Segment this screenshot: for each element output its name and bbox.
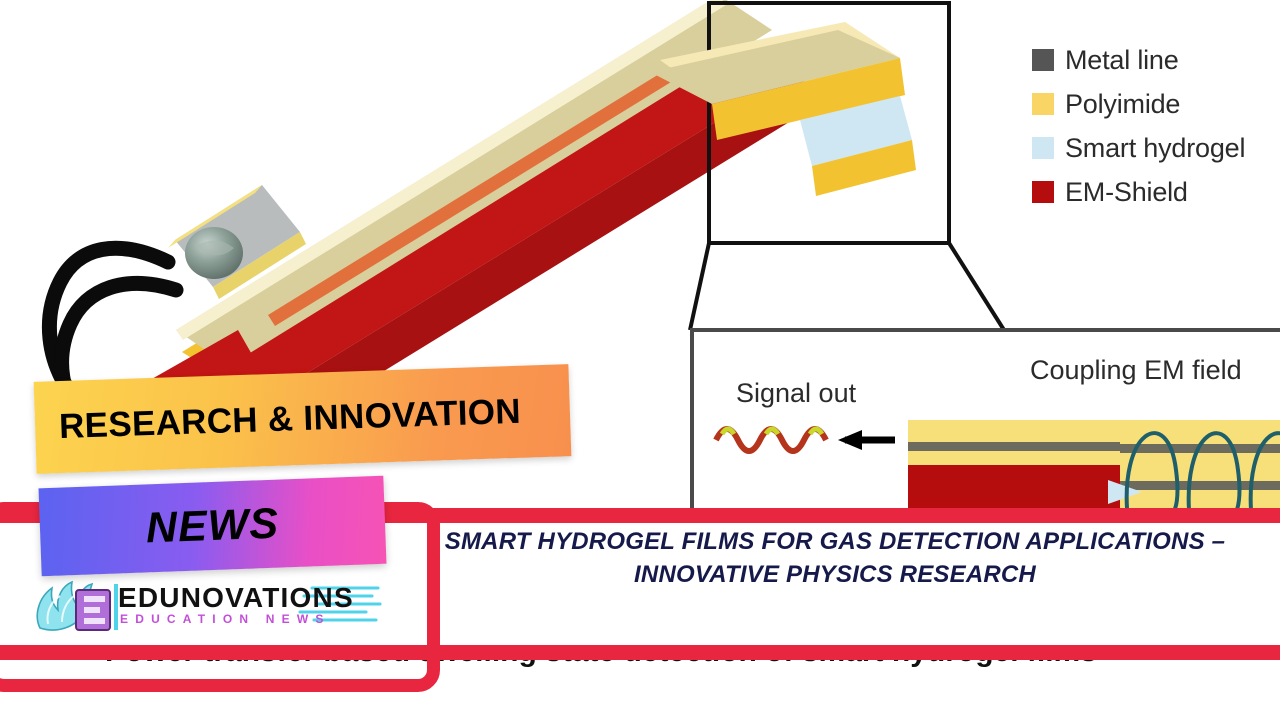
figure-legend: Metal line Polyimide Smart hydrogel EM-S… (1032, 38, 1245, 214)
news-badge-label: NEWS (145, 499, 280, 553)
logo-tagline: EDUCATION NEWS (120, 612, 331, 626)
legend-label: Polyimide (1065, 89, 1180, 120)
legend-item: EM-Shield (1032, 170, 1245, 214)
monogram-icon (76, 590, 110, 630)
logo-wordmark: EDUNOVATIONS (118, 582, 354, 614)
headline: SMART HYDROGEL FILMS FOR GAS DETECTION A… (420, 525, 1250, 591)
legend-item: Polyimide (1032, 82, 1245, 126)
legend-item: Smart hydrogel (1032, 126, 1245, 170)
legend-label: EM-Shield (1065, 177, 1188, 208)
legend-swatch-polyimide (1032, 93, 1054, 115)
news-badge: NEWS (39, 476, 387, 577)
category-banner: RESEARCH & INNOVATION (34, 364, 572, 474)
legend-label: Smart hydrogel (1065, 133, 1245, 164)
screenshot-root: Metal line Polyimide Smart hydrogel EM-S… (0, 0, 1280, 720)
callout-leader-lines (690, 243, 1004, 330)
signal-out-label: Signal out (736, 378, 856, 409)
coupling-em-field-label: Coupling EM field (1030, 355, 1242, 386)
category-banner-label: RESEARCH & INNOVATION (34, 392, 521, 448)
legend-swatch-metal-line (1032, 49, 1054, 71)
legend-swatch-em-shield (1032, 181, 1054, 203)
legend-swatch-smart-hydrogel (1032, 137, 1054, 159)
legend-label: Metal line (1065, 45, 1179, 76)
site-logo[interactable]: EDUNOVATIONS EDUCATION NEWS (28, 576, 388, 640)
legend-item: Metal line (1032, 38, 1245, 82)
